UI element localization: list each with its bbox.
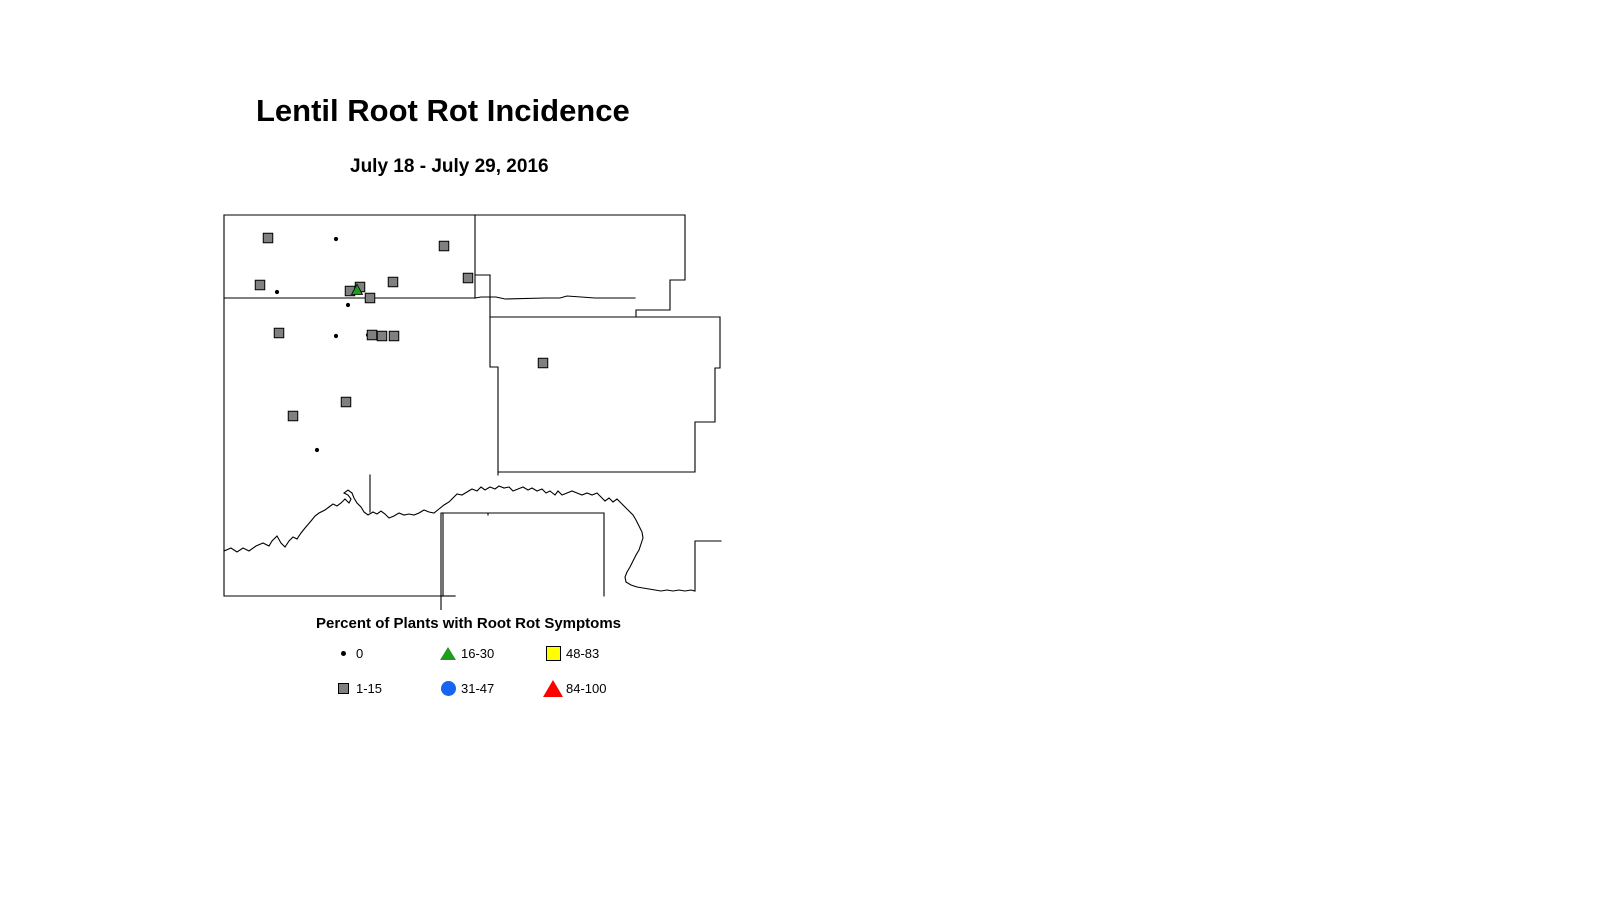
page-subtitle: July 18 - July 29, 2016 — [350, 156, 549, 178]
map-page: Lentil Root Rot Incidence July 18 - July… — [0, 0, 1612, 900]
map-point-1-15 — [288, 411, 298, 421]
legend-item-0: 0 — [330, 643, 363, 663]
map-point-1-15 — [263, 233, 273, 243]
blue-circle-icon — [441, 681, 456, 696]
map-point-0 — [315, 448, 319, 452]
legend-item-1-15: 1-15 — [330, 678, 382, 698]
page-title: Lentil Root Rot Incidence — [256, 93, 630, 129]
map-point-1-15 — [255, 280, 265, 290]
map-point-1-15 — [389, 331, 399, 341]
legend-label: 16-30 — [461, 646, 494, 661]
legend-item-31-47: 31-47 — [435, 678, 494, 698]
map-point-1-15 — [367, 330, 377, 340]
legend-swatch-wrap — [330, 651, 356, 656]
map-point-0 — [346, 303, 350, 307]
legend-swatch-wrap — [540, 680, 566, 697]
map-canvas[interactable] — [215, 210, 735, 610]
map-point-1-15 — [377, 331, 387, 341]
legend-label: 48-83 — [566, 646, 599, 661]
legend-swatch-wrap — [435, 681, 461, 696]
small-black-dot-icon — [341, 651, 346, 656]
legend-swatch-wrap — [435, 647, 461, 660]
map-point-0 — [334, 237, 338, 241]
map-point-1-15 — [439, 241, 449, 251]
legend-item-16-30: 16-30 — [435, 643, 494, 663]
legend-item-48-83: 48-83 — [540, 643, 599, 663]
gray-square-icon — [338, 683, 349, 694]
legend-label: 31-47 — [461, 681, 494, 696]
legend-swatch-wrap — [330, 683, 356, 694]
legend-label: 1-15 — [356, 681, 382, 696]
map-point-1-15 — [538, 358, 548, 368]
map-point-1-15 — [463, 273, 473, 283]
legend-label: 0 — [356, 646, 363, 661]
red-triangle-icon — [543, 680, 563, 697]
legend-item-84-100: 84-100 — [540, 678, 606, 698]
legend-title: Percent of Plants with Root Rot Symptoms — [316, 615, 621, 632]
map-point-layer — [255, 233, 548, 452]
map-point-1-15 — [365, 293, 375, 303]
map-point-0 — [334, 334, 338, 338]
yellow-square-icon — [546, 646, 561, 661]
map-point-0 — [275, 290, 279, 294]
map-point-1-15 — [274, 328, 284, 338]
legend: 016-3048-831-1531-4784-100 — [330, 640, 660, 710]
map-point-1-15 — [341, 397, 351, 407]
legend-label: 84-100 — [566, 681, 606, 696]
green-triangle-icon — [440, 647, 456, 660]
legend-swatch-wrap — [540, 646, 566, 661]
map-graphic — [215, 210, 735, 610]
map-point-1-15 — [388, 277, 398, 287]
